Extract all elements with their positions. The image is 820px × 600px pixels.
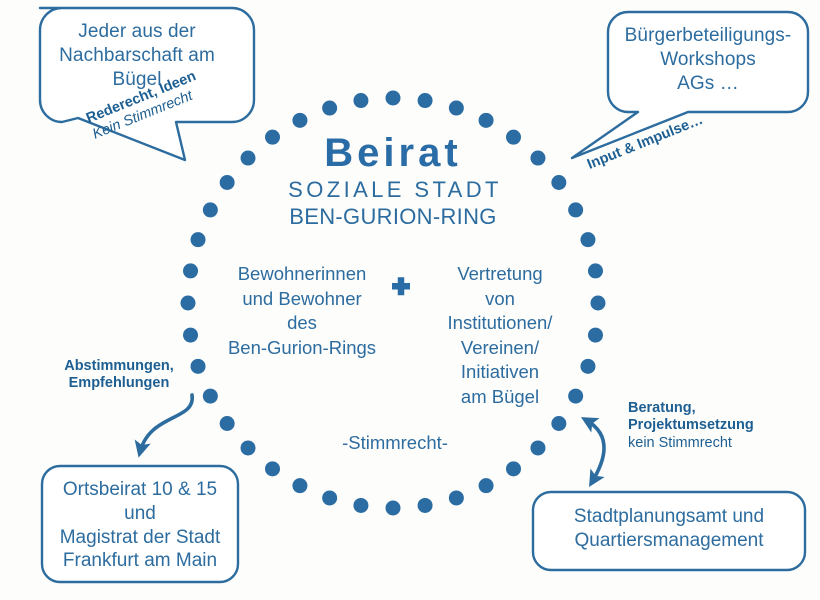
plus-icon bbox=[392, 277, 410, 295]
ring-dot bbox=[322, 490, 337, 505]
subtitle-ben-gurion-ring: BEN-GURION-RING bbox=[253, 203, 533, 231]
ring-dot bbox=[220, 416, 235, 431]
ring-dot bbox=[580, 359, 595, 374]
ring-dot bbox=[479, 478, 494, 493]
subtitle-soziale-stadt: SOZIALE STADT bbox=[253, 176, 537, 204]
diagram-canvas: Jeder aus der Nachbarschaft am Bügel Red… bbox=[0, 0, 820, 600]
ring-dot bbox=[292, 478, 307, 493]
ring-dot bbox=[580, 232, 595, 247]
center-left-column: Bewohnerinnen und Bewohner des Ben-Gurio… bbox=[212, 262, 392, 360]
ring-dot bbox=[479, 113, 494, 128]
ring-dot bbox=[588, 263, 603, 278]
ring-dot bbox=[203, 202, 218, 217]
ring-dot bbox=[191, 232, 206, 247]
annotation-beratung-bold: Beratung, Projektumsetzung bbox=[628, 400, 818, 435]
ring-dot bbox=[181, 296, 196, 311]
ring-dot bbox=[551, 416, 566, 431]
box-ortsbeirat-label: Ortsbeirat 10 & 15 und Magistrat der Sta… bbox=[44, 478, 236, 573]
ring-dot bbox=[530, 440, 545, 455]
ring-dot bbox=[183, 263, 198, 278]
ring-dot bbox=[418, 93, 433, 108]
ring-dot bbox=[449, 490, 464, 505]
ring-dot bbox=[241, 440, 256, 455]
arrow-beratung-path bbox=[586, 420, 604, 482]
ring-dot bbox=[568, 202, 583, 217]
ring-dot bbox=[353, 93, 368, 108]
bubble-neighbourhood-label: Jeder aus der Nachbarschaft am Bügel bbox=[44, 20, 230, 91]
ring-dot bbox=[506, 461, 521, 476]
ring-dot bbox=[183, 328, 198, 343]
annotation-abstimmungen: Abstimmungen, Empfehlungen bbox=[44, 358, 194, 393]
ring-dot bbox=[322, 101, 337, 116]
arrow-abstimmungen-path bbox=[140, 395, 192, 452]
ring-dot bbox=[386, 91, 401, 106]
ring-dot bbox=[292, 113, 307, 128]
ring-dot bbox=[449, 101, 464, 116]
bubble-participation-label: Bürgerbeteiligungs- Workshops AGs … bbox=[612, 24, 804, 95]
center-right-column: Vertretung von Institutionen/ Vereinen/ … bbox=[420, 262, 580, 410]
ring-dot bbox=[551, 175, 566, 190]
page-title: Beirat bbox=[253, 128, 533, 178]
ring-dot bbox=[265, 461, 280, 476]
ring-dot bbox=[203, 389, 218, 404]
ring-dot bbox=[220, 175, 235, 190]
center-footer-note: -Stimmrecht- bbox=[305, 431, 485, 454]
box-stadtplanungsamt-label: Stadtplanungsamt und Quartiersmanagement bbox=[537, 505, 801, 553]
annotation-beratung: Beratung, Projektumsetzung kein Stimmrec… bbox=[628, 400, 818, 452]
ring-dot bbox=[418, 498, 433, 513]
ring-dot bbox=[591, 296, 606, 311]
ring-dot bbox=[353, 498, 368, 513]
annotation-abstimmungen-bold: Abstimmungen, Empfehlungen bbox=[44, 358, 194, 393]
annotation-beratung-light: kein Stimmrecht bbox=[628, 435, 818, 452]
ring-dot bbox=[386, 501, 401, 516]
ring-dot bbox=[588, 328, 603, 343]
